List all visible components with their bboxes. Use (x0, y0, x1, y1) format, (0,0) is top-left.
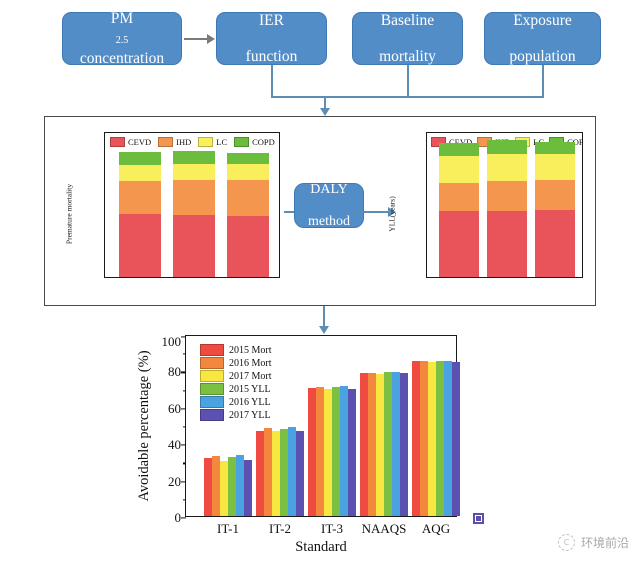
chart1-legend: CEVD IHD LC COPD (110, 137, 275, 147)
chart2-ytick-mark-35000 (426, 176, 427, 177)
pm25-subscript: 2.5 (116, 35, 129, 46)
chart3-ytick-mark-100 (181, 336, 186, 337)
chart2-ytick-mark-40000 (426, 162, 427, 163)
chart2-y-axis-label: YLL(years) (388, 196, 397, 231)
baseline-line1: Baseline (379, 12, 436, 30)
chart2-ytick-mark-20000 (426, 220, 427, 221)
chart3-bar-naaqs-2016mort[interactable] (368, 373, 376, 516)
watermark-text: 环境前沿 (581, 534, 629, 551)
chart1-legend-swatch-lc (198, 137, 213, 147)
process-box-pm25-label: PM2.5 concentration (80, 10, 164, 68)
process-box-baseline-mortality[interactable]: Baseline mortality (352, 12, 463, 65)
chart1-seg-cevd-2015 (119, 214, 161, 277)
pm25-line1: PM (80, 10, 164, 28)
chart3-ytick-mark-30 (183, 463, 186, 464)
arrowhead-pm25-to-ier (207, 34, 215, 44)
chart1-legend-swatch-copd (234, 137, 249, 147)
arrowhead-bus-to-midbox (320, 108, 330, 116)
chart1-seg-lc-2016 (173, 164, 215, 180)
connector-pm25-to-ier (184, 38, 208, 40)
daly-label: DALY method (308, 182, 350, 230)
chart3-legend: 2015 Mort 2016 Mort 2017 Mort 2015 YLL 2… (200, 344, 272, 421)
chart1-ytick-mark-2000 (104, 230, 105, 231)
chart1-seg-cevd-2017 (227, 216, 269, 277)
chart3-bar-aqg-2015mort[interactable] (412, 361, 420, 516)
baseline-line2: mortality (379, 48, 436, 66)
chart-avoidable-percentage: Avoidable percentage (%) Standard 2015 M… (128, 327, 473, 559)
chart3-xtick-it1: IT-1 (217, 521, 239, 537)
chart3-ytick-mark-70 (183, 390, 186, 391)
chart1-legend-item-lc: LC (198, 137, 227, 147)
chart3-ytick-mark-60 (181, 408, 186, 409)
chart3-ytick-mark-50 (183, 426, 186, 427)
chart3-bar-aqg-2017yll[interactable] (452, 362, 460, 516)
chart1-plot-area: CEVD IHD LC COPD (104, 132, 280, 278)
chart3-bar-aqg-2016yll[interactable] (444, 361, 452, 516)
chart3-bar-it2-2016mort[interactable] (264, 428, 272, 516)
chart1-seg-ihd-2017 (227, 180, 269, 216)
chart1-seg-copd-2016 (173, 151, 215, 165)
chart3-xtick-it2: IT-2 (269, 521, 291, 537)
corner-marker-icon (473, 513, 484, 524)
chart3-legend-label-2015-mort: 2015 Mort (229, 345, 272, 356)
chart3-bar-naaqs-2017yll[interactable] (400, 373, 408, 516)
process-box-pm25[interactable]: PM2.5 concentration (62, 12, 182, 65)
chart3-legend-swatch-2017-yll (200, 409, 224, 421)
chart1-seg-cevd-2016 (173, 215, 215, 277)
process-box-ier[interactable]: IER function (216, 12, 327, 65)
process-box-baseline-label: Baseline mortality (379, 12, 436, 66)
chart2-seg-lc-2016 (487, 154, 527, 181)
exposure-line2: population (509, 48, 575, 66)
chart3-legend-item-2016-yll: 2016 YLL (200, 396, 272, 408)
chart1-ytick-mark-6000 (104, 133, 105, 134)
chart3-ytick-mark-80 (181, 372, 186, 373)
chart2-ytick-mark-50000 (426, 133, 427, 134)
chart2-bar-2017[interactable] (535, 142, 575, 278)
chart3-ytick-mark-90 (183, 354, 186, 355)
chart1-legend-item-ihd: IHD (158, 137, 191, 147)
chart2-ytick-mark-5000 (426, 264, 427, 265)
daly-line2: method (308, 214, 350, 230)
ier-line1: IER (246, 12, 298, 30)
chart3-ytick-20: 20 (168, 474, 181, 490)
process-box-exposure-population[interactable]: Exposure population (484, 12, 601, 65)
chart3-bar-it2-2015mort[interactable] (256, 431, 264, 517)
ier-line2: function (246, 48, 298, 66)
chart3-bar-it2-2015yll[interactable] (280, 429, 288, 516)
chart3-bar-aqg-2017mort[interactable] (428, 362, 436, 516)
chart2-bar-2016[interactable] (487, 140, 527, 277)
chart-yll: YLL(years) CEVD IHD LC COPD (384, 126, 584, 298)
chart3-bar-naaqs-2016yll[interactable] (392, 372, 400, 516)
chart1-ytick-mark-5000 (104, 157, 105, 158)
chart2-seg-cevd-2016 (487, 211, 527, 277)
chart1-bar-2015[interactable] (119, 155, 161, 277)
chart3-bar-it2-2016yll[interactable] (288, 427, 296, 516)
chart3-legend-label-2017-mort: 2017 Mort (229, 371, 272, 382)
connector-ier-down (271, 65, 273, 97)
chart3-x-axis-label: Standard (295, 539, 347, 556)
chart3-bar-it1-2017mort[interactable] (220, 461, 228, 517)
chart3-legend-swatch-2015-mort (200, 344, 224, 356)
chart3-ytick-40: 40 (168, 437, 181, 453)
chart1-seg-copd-2015 (119, 152, 161, 165)
chart1-legend-swatch-cevd (110, 137, 125, 147)
chart3-legend-label-2016-yll: 2016 YLL (229, 397, 271, 408)
process-box-daly-method[interactable]: DALY method (294, 183, 364, 228)
chart3-ytick-mark-20 (181, 481, 186, 482)
chart2-ytick-mark-45000 (426, 147, 427, 148)
chart3-ytick-60: 60 (168, 401, 181, 417)
chart3-legend-item-2017-yll: 2017 YLL (200, 409, 272, 421)
chart3-bar-naaqs-2015yll[interactable] (384, 372, 392, 516)
chart3-bar-it1-2017yll[interactable] (244, 460, 252, 516)
chart1-legend-label-ihd: IHD (176, 137, 191, 147)
chart1-seg-lc-2015 (119, 165, 161, 180)
connector-bus-horizontal (271, 96, 544, 98)
chart2-seg-copd-2016 (487, 140, 527, 155)
chart1-ytick-mark-1000 (104, 254, 105, 255)
chart2-seg-ihd-2016 (487, 181, 527, 211)
process-box-ier-label: IER function (246, 12, 298, 66)
chart2-seg-copd-2017 (535, 142, 575, 155)
chart3-legend-swatch-2016-mort (200, 357, 224, 369)
chart1-seg-ihd-2015 (119, 181, 161, 215)
chart3-ytick-mark-10 (183, 499, 186, 500)
daly-line1: DALY (308, 182, 350, 198)
chart3-plot-area: 2015 Mort 2016 Mort 2017 Mort 2015 YLL 2… (185, 335, 457, 517)
chart2-seg-ihd-2015 (439, 183, 479, 211)
process-box-exposure-label: Exposure population (509, 12, 575, 66)
chart1-legend-item-cevd: CEVD (110, 137, 151, 147)
watermark: C 环境前沿 (558, 534, 629, 551)
chart1-seg-lc-2017 (227, 164, 269, 180)
chart1-legend-swatch-ihd (158, 137, 173, 147)
chart-premature-mortality: Premature mortality CEVD IHD LC (60, 126, 290, 298)
chart3-legend-label-2015-yll: 2015 YLL (229, 384, 271, 395)
chart3-bar-naaqs-2017mort[interactable] (376, 374, 384, 516)
chart2-bar-2015[interactable] (439, 143, 479, 277)
chart2-seg-cevd-2015 (439, 211, 479, 277)
chart2-seg-copd-2015 (439, 143, 479, 156)
chart2-plot-area: CEVD IHD LC COPD (426, 132, 583, 278)
chart3-legend-item-2017-mort: 2017 Mort (200, 370, 272, 382)
chart3-ytick-mark-0 (181, 517, 186, 518)
chart2-ytick-mark-30000 (426, 191, 427, 192)
chart1-legend-label-copd: COPD (252, 137, 275, 147)
chart3-xtick-aqg: AQG (422, 521, 450, 537)
chart3-bar-aqg-2015yll[interactable] (436, 361, 444, 516)
chart2-seg-lc-2017 (535, 154, 575, 180)
chart3-legend-swatch-2015-yll (200, 383, 224, 395)
chart3-legend-item-2015-mort: 2015 Mort (200, 344, 272, 356)
chart1-seg-ihd-2016 (173, 180, 215, 215)
chart3-bar-it3-2015mort[interactable] (308, 388, 316, 516)
chart1-legend-label-cevd: CEVD (128, 137, 151, 147)
chart3-legend-swatch-2017-mort (200, 370, 224, 382)
chart2-seg-lc-2015 (439, 156, 479, 183)
chart3-bar-it1-2016mort[interactable] (212, 456, 220, 516)
chart3-ytick-80: 80 (168, 364, 181, 380)
chart3-bar-it3-2017mort[interactable] (324, 389, 332, 516)
chart3-bar-naaqs-2015mort[interactable] (360, 373, 368, 516)
chart3-legend-item-2015-yll: 2015 YLL (200, 383, 272, 395)
chart3-xtick-it3: IT-3 (321, 521, 343, 537)
chart3-legend-label-2017-yll: 2017 YLL (229, 410, 271, 421)
exposure-line1: Exposure (509, 12, 575, 30)
chart3-bar-it1-2015mort[interactable] (204, 458, 212, 516)
chart3-bar-it2-2017yll[interactable] (296, 431, 304, 516)
chart1-legend-item-copd: COPD (234, 137, 275, 147)
chart1-y-axis-label: Premature mortality (65, 184, 74, 244)
chart1-bar-2016[interactable] (173, 153, 215, 278)
chart1-legend-label-lc: LC (216, 137, 227, 147)
chart3-bar-it3-2017yll[interactable] (348, 389, 356, 516)
chart3-legend-swatch-2016-yll (200, 396, 224, 408)
chart2-ytick-mark-15000 (426, 235, 427, 236)
chart3-bar-it3-2015yll[interactable] (332, 387, 340, 516)
chart2-ytick-mark-10000 (426, 249, 427, 250)
chart2-seg-cevd-2017 (535, 210, 575, 277)
chart3-bar-it1-2016yll[interactable] (236, 455, 244, 516)
connector-baseline-down (407, 65, 409, 97)
chart1-ytick-mark-4000 (104, 181, 105, 182)
chart1-ytick-mark-3000 (104, 206, 105, 207)
chart2-ytick-mark-25000 (426, 206, 427, 207)
chart3-bar-it3-2016mort[interactable] (316, 387, 324, 516)
chart3-legend-item-2016-mort: 2016 Mort (200, 357, 272, 369)
chart3-legend-label-2016-mort: 2016 Mort (229, 358, 272, 369)
chart3-ytick-100: 100 (162, 334, 182, 350)
chart3-y-axis-label: Avoidable percentage (%) (136, 350, 153, 501)
figure-canvas: PM2.5 concentration IER function Baselin… (0, 0, 639, 565)
chart3-ytick-mark-40 (181, 445, 186, 446)
watermark-badge-icon: C (558, 534, 575, 551)
chart2-seg-ihd-2017 (535, 180, 575, 210)
chart3-bar-it3-2016yll[interactable] (340, 386, 348, 516)
chart3-bar-it2-2017mort[interactable] (272, 431, 280, 516)
chart3-bar-it1-2015yll[interactable] (228, 457, 236, 516)
chart3-bar-aqg-2016mort[interactable] (420, 361, 428, 516)
chart3-ytick-0: 0 (175, 510, 182, 526)
chart1-seg-copd-2017 (227, 153, 269, 165)
pm25-line2: concentration (80, 50, 164, 68)
chart1-bar-2017[interactable] (227, 153, 269, 278)
chart3-xtick-naaqs: NAAQS (362, 521, 407, 537)
connector-exposure-down (542, 65, 544, 97)
connector-midbox-to-bottom (323, 306, 325, 328)
